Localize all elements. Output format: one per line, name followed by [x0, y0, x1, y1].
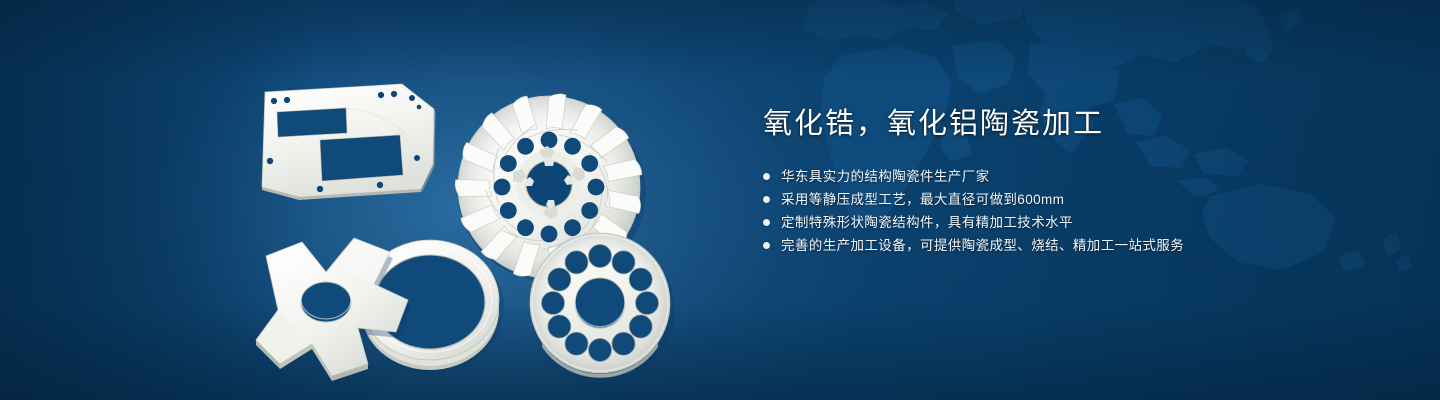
list-item: 华东具实力的结构陶瓷件生产厂家	[763, 165, 1363, 188]
list-item: 定制特殊形状陶瓷结构件，具有精加工技术水平	[763, 211, 1363, 234]
ceramic-products-image	[0, 0, 740, 400]
feature-text: 定制特殊形状陶瓷结构件，具有精加工技术水平	[781, 211, 1073, 234]
dot-bullet-icon	[763, 219, 770, 226]
ceramic-perforated-disc	[530, 233, 675, 380]
dot-bullet-icon	[763, 173, 770, 180]
feature-text: 华东具实力的结构陶瓷件生产厂家	[781, 165, 990, 188]
page-title: 氧化锆，氧化铝陶瓷加工	[763, 104, 1363, 144]
hero-banner: 氧化锆，氧化铝陶瓷加工 华东具实力的结构陶瓷件生产厂家 采用等静压成型工艺，最大…	[0, 0, 1440, 400]
dot-bullet-icon	[763, 196, 770, 203]
list-item: 完善的生产加工设备，可提供陶瓷成型、烧结、精加工一站式服务	[763, 234, 1363, 257]
ceramic-plate	[262, 84, 436, 200]
feature-text: 完善的生产加工设备，可提供陶瓷成型、烧结、精加工一站式服务	[781, 234, 1184, 257]
ceramic-cross-part	[256, 238, 411, 382]
feature-list: 华东具实力的结构陶瓷件生产厂家 采用等静压成型工艺，最大直径可做到600mm 定…	[763, 165, 1363, 257]
banner-copy: 氧化锆，氧化铝陶瓷加工 华东具实力的结构陶瓷件生产厂家 采用等静压成型工艺，最大…	[763, 104, 1363, 273]
feature-text: 采用等静压成型工艺，最大直径可做到600mm	[781, 188, 1064, 211]
list-item: 采用等静压成型工艺，最大直径可做到600mm	[763, 188, 1363, 211]
dot-bullet-icon	[763, 242, 770, 249]
